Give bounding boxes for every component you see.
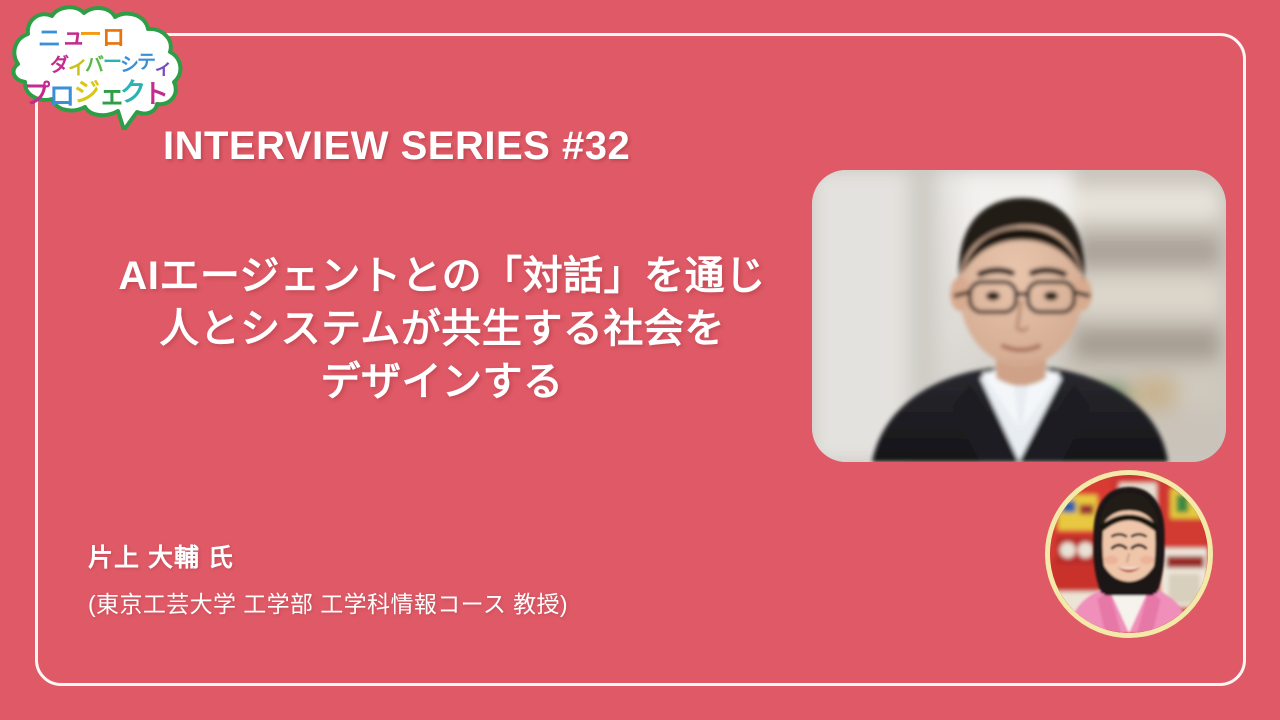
speaker-block: 片上 大輔 氏 (東京工芸大学 工学部 工学科情報コース 教授) bbox=[88, 538, 568, 619]
headline-line-2: 人とシステムが共生する社会を bbox=[62, 303, 822, 356]
logo-char-pu: プ bbox=[24, 80, 51, 110]
logo-line-3: プ ロ ジ ェ ク ト bbox=[24, 78, 169, 112]
logo-char-ni: ニ bbox=[38, 26, 61, 52]
logo-char-ji: ジ bbox=[74, 78, 100, 108]
interview-slide: ニ ュ ー ロ ダ イ バ ー シ テ ィ プ ロ ジ ェ ク bbox=[0, 0, 1280, 720]
headline-line-1: AIエージェントとの「対話」を通じ bbox=[62, 250, 822, 303]
logo-char-ro: ロ bbox=[102, 25, 125, 51]
logo-char-ro2: ロ bbox=[49, 82, 75, 112]
speaker-name: 片上 大輔 氏 bbox=[88, 538, 568, 574]
neuro-diversity-project-logo: ニ ュ ー ロ ダ イ バ ー シ テ ィ プ ロ ジ ェ ク bbox=[6, 4, 192, 130]
logo-char-i2: ィ bbox=[154, 57, 173, 79]
logo-char-dash: ー bbox=[79, 22, 102, 48]
logo-line-1: ニ ュ ー ロ bbox=[38, 22, 125, 52]
interviewer-avatar bbox=[1045, 470, 1213, 638]
speaker-affiliation: (東京工芸大学 工学部 工学科情報コース 教授) bbox=[88, 585, 568, 619]
logo-char-to: ト bbox=[143, 80, 169, 110]
logo-char-da: ダ bbox=[50, 53, 69, 76]
headline-line-3: デザインする bbox=[62, 356, 822, 409]
avatar-clip bbox=[1050, 475, 1208, 633]
interviewee-photo bbox=[812, 170, 1226, 462]
series-title: INTERVIEW SERIES #32 bbox=[163, 124, 630, 169]
headline: AIエージェントとの「対話」を通じ 人とシステムが共生する社会を デザインする bbox=[62, 250, 822, 408]
logo-char-ba: バ bbox=[85, 54, 104, 76]
